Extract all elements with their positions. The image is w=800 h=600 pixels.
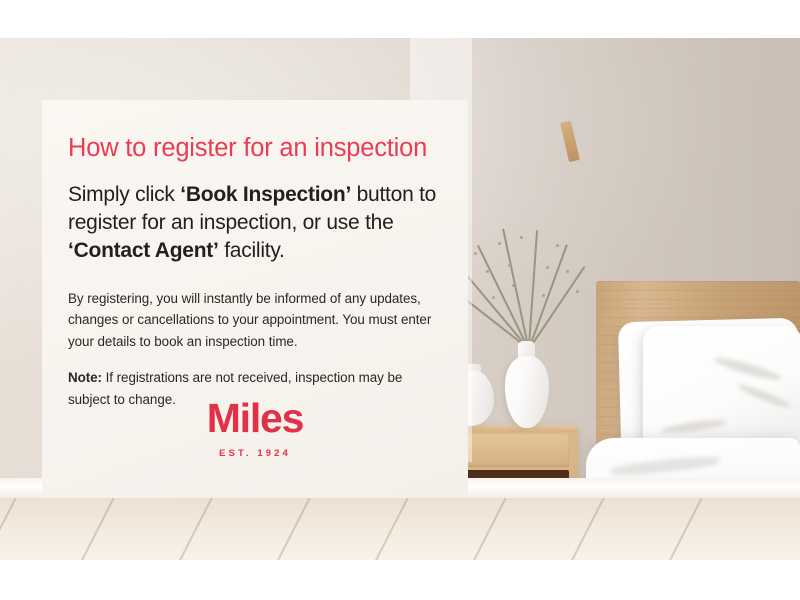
book-inspection-emphasis: ‘Book Inspection’	[180, 183, 351, 206]
brand-logo: Miles EST. 1924	[42, 398, 468, 459]
pillow-crease	[661, 417, 728, 435]
duvet-fold	[610, 454, 721, 477]
letterbox-bottom	[0, 560, 800, 600]
screenshot-canvas: How to register for an inspection Simply…	[0, 0, 800, 600]
page-title: How to register for an inspection	[68, 134, 440, 162]
logo-tagline: EST. 1924	[42, 448, 468, 459]
note-label: Note:	[68, 370, 102, 385]
wood-floor	[0, 498, 800, 560]
registration-info-paragraph: By registering, you will instantly be in…	[68, 288, 440, 352]
logo-wordmark: Miles	[42, 398, 468, 439]
letterbox-top	[0, 0, 800, 38]
lead-text-part3: facility.	[219, 239, 285, 262]
info-card: How to register for an inspection Simply…	[42, 100, 468, 498]
pillow-crease	[713, 355, 783, 384]
contact-agent-emphasis: ‘Contact Agent’	[68, 239, 219, 262]
pillow-crease	[736, 381, 793, 410]
bedroom-scene-photo: How to register for an inspection Simply…	[0, 38, 800, 560]
lead-paragraph: Simply click ‘Book Inspection’ button to…	[68, 181, 440, 265]
floor-surface	[0, 498, 800, 560]
lead-text-part1: Simply click	[68, 183, 180, 206]
